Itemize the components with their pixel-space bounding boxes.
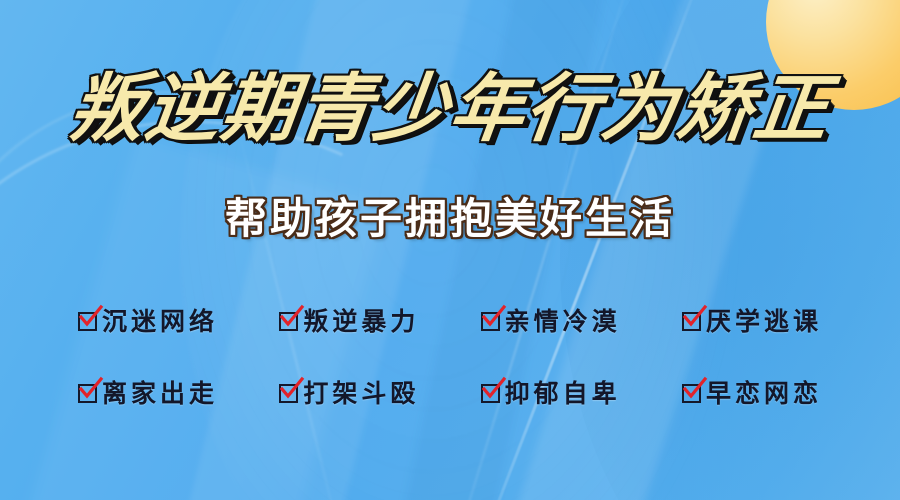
promo-banner: 叛逆期青少年行为矫正 帮助孩子拥抱美好生活 沉迷网络 叛逆暴力 bbox=[0, 0, 900, 500]
list-item-label: 打架斗殴 bbox=[303, 381, 419, 406]
list-item-label: 叛逆暴力 bbox=[303, 309, 419, 334]
checkbox-checked-icon[interactable] bbox=[279, 384, 298, 403]
list-item[interactable]: 离家出走 bbox=[78, 381, 218, 406]
list-item-label: 厌学逃课 bbox=[706, 309, 822, 334]
checkbox-checked-icon[interactable] bbox=[279, 312, 298, 331]
checkbox-checked-icon[interactable] bbox=[78, 384, 97, 403]
list-item[interactable]: 叛逆暴力 bbox=[279, 309, 419, 334]
checkbox-checked-icon[interactable] bbox=[481, 312, 500, 331]
list-item-label: 亲情冷漠 bbox=[505, 309, 621, 334]
checkbox-checked-icon[interactable] bbox=[682, 384, 701, 403]
list-item-label: 离家出走 bbox=[102, 381, 218, 406]
checklist-row: 沉迷网络 叛逆暴力 亲情冷漠 厌学逃课 bbox=[78, 292, 822, 350]
checkbox-checked-icon[interactable] bbox=[481, 384, 500, 403]
subtitle-container: 帮助孩子拥抱美好生活 bbox=[0, 198, 900, 240]
list-item-label: 早恋网恋 bbox=[706, 381, 822, 406]
list-item[interactable]: 沉迷网络 bbox=[78, 309, 218, 334]
list-item[interactable]: 厌学逃课 bbox=[682, 309, 822, 334]
list-item[interactable]: 打架斗殴 bbox=[279, 381, 419, 406]
page-subtitle: 帮助孩子拥抱美好生活 bbox=[225, 198, 675, 240]
list-item[interactable]: 抑郁自卑 bbox=[481, 381, 621, 406]
page-title: 叛逆期青少年行为矫正 bbox=[65, 72, 834, 146]
checkbox-checked-icon[interactable] bbox=[682, 312, 701, 331]
list-item-label: 抑郁自卑 bbox=[505, 381, 621, 406]
title-container: 叛逆期青少年行为矫正 bbox=[0, 72, 900, 146]
list-item[interactable]: 早恋网恋 bbox=[682, 381, 822, 406]
problem-checklist: 沉迷网络 叛逆暴力 亲情冷漠 厌学逃课 bbox=[78, 292, 822, 422]
list-item-label: 沉迷网络 bbox=[102, 309, 218, 334]
list-item[interactable]: 亲情冷漠 bbox=[481, 309, 621, 334]
checklist-row: 离家出走 打架斗殴 抑郁自卑 早恋网恋 bbox=[78, 364, 822, 422]
checkbox-checked-icon[interactable] bbox=[78, 312, 97, 331]
